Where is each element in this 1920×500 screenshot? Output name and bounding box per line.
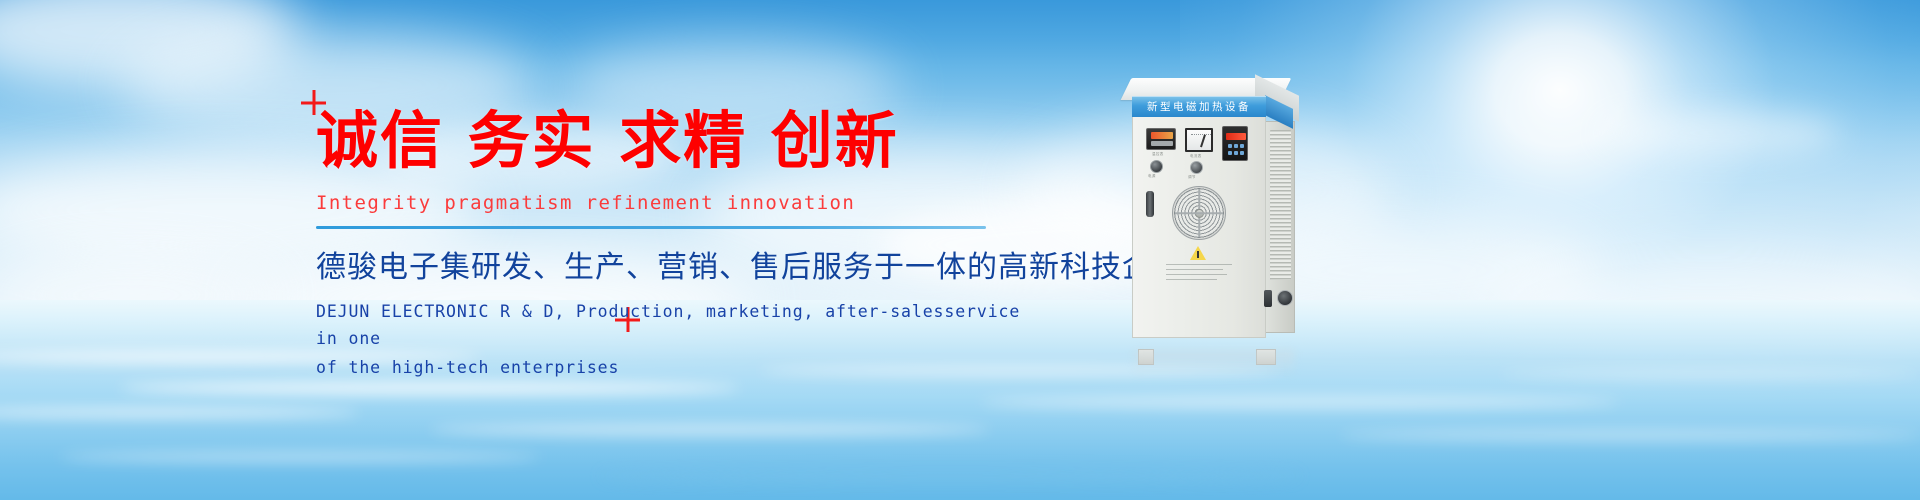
knob-label-left: 电源 <box>1148 174 1156 179</box>
cloud-shape <box>1600 110 1840 156</box>
warning-triangle-icon <box>1190 246 1206 260</box>
machine-keypad-module <box>1222 126 1248 161</box>
subtitle-chinese: 德骏电子集研发、生产、营销、售后服务于一体的高新科技企业 <box>316 249 1036 287</box>
gauge-label: 电流表 <box>1190 154 1202 159</box>
headline-english: Integrity pragmatism refinement innovati… <box>316 192 1036 214</box>
water-streak <box>430 424 990 435</box>
keypad-button <box>1234 151 1238 155</box>
water-streak <box>1340 430 1920 440</box>
keypad-button <box>1228 151 1232 155</box>
subtitle-english-line-1: DEJUN ELECTRONIC R & D, Production, mark… <box>316 298 1036 352</box>
machine-side-port-rect <box>1264 290 1272 307</box>
divider-rule <box>316 226 986 229</box>
keypad-button <box>1234 144 1238 148</box>
machine-reflection <box>1134 350 1294 376</box>
product-image-heating-equipment: 新型电磁加热设备 电源 调节 温控表 电流表 <box>1124 78 1324 353</box>
spec-line <box>1166 274 1227 275</box>
water-streak <box>980 396 1620 408</box>
machine-spec-text <box>1166 264 1232 284</box>
machine-analog-gauge <box>1185 128 1213 152</box>
machine-digital-display <box>1146 128 1176 150</box>
machine-product-label: 新型电磁加热设备 <box>1132 96 1266 117</box>
water-streak <box>0 408 360 417</box>
hero-banner: 诚信 务实 求精 创新 Integrity pragmatism refinem… <box>0 0 1920 500</box>
machine-door-handle <box>1146 191 1154 217</box>
display-label: 温控表 <box>1152 152 1164 157</box>
fan-hub <box>1195 209 1204 218</box>
display-segment-primary <box>1151 132 1173 139</box>
spec-line <box>1166 269 1223 270</box>
water-streak <box>600 470 1300 482</box>
water-streak <box>60 452 540 462</box>
headline-chinese: 诚信 务实 求精 创新 <box>316 104 1036 178</box>
keypad-led-display <box>1226 133 1246 140</box>
water-streak <box>120 382 740 394</box>
cloud-shape <box>0 255 280 335</box>
machine-power-knob <box>1150 160 1163 173</box>
machine-adjust-knob <box>1190 161 1203 174</box>
machine-vent-grille <box>1270 130 1291 280</box>
banner-copy: 诚信 务实 求精 创新 Integrity pragmatism refinem… <box>316 104 1036 381</box>
keypad-button <box>1240 144 1244 148</box>
machine-fan-grille <box>1172 186 1226 240</box>
spec-line <box>1166 279 1217 280</box>
keypad-button <box>1228 144 1232 148</box>
spec-line <box>1166 264 1232 265</box>
subtitle-english-line-2: of the high-tech enterprises <box>316 354 1036 381</box>
water-streak <box>1500 370 1920 378</box>
cloud-shape <box>1480 250 1920 360</box>
keypad-button <box>1240 151 1244 155</box>
display-segment-secondary <box>1151 141 1173 146</box>
machine-side-port-round <box>1277 290 1293 306</box>
cloud-shape <box>0 0 300 90</box>
knob-label-right: 调节 <box>1188 175 1196 180</box>
